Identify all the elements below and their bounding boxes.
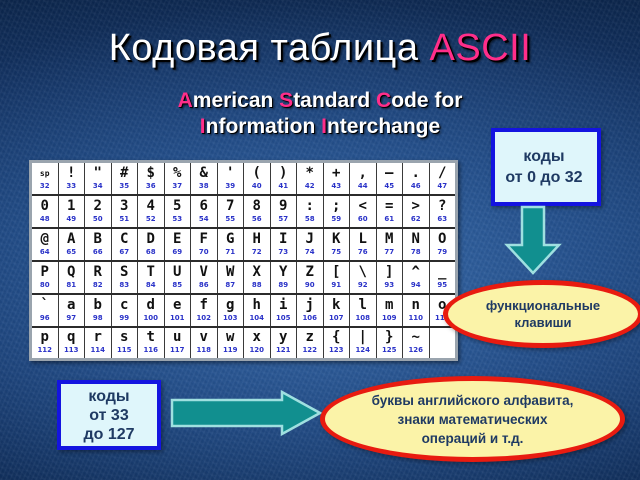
ascii-char: ? xyxy=(430,199,456,215)
ascii-cell: e101 xyxy=(164,294,191,327)
ascii-char: sp xyxy=(32,166,58,182)
ascii-code: 59 xyxy=(324,215,350,224)
ascii-code: 114 xyxy=(85,346,111,355)
ascii-char: O xyxy=(430,232,456,248)
ascii-cell: u117 xyxy=(164,327,191,360)
ascii-code: 37 xyxy=(165,182,191,191)
ascii-code: 99 xyxy=(112,314,138,323)
ascii-code: 76 xyxy=(350,248,376,257)
ascii-code: 74 xyxy=(297,248,323,257)
ascii-code: 49 xyxy=(59,215,85,224)
ascii-char: t xyxy=(138,330,164,346)
ascii-char: \ xyxy=(350,265,376,281)
subtitle-1-segment-5: ode for xyxy=(391,89,462,112)
callout-codes-33-127-line-2: от 33 xyxy=(83,406,134,425)
ascii-char: 7 xyxy=(218,199,244,215)
ascii-cell: B66 xyxy=(85,228,112,261)
ascii-code: 40 xyxy=(244,182,270,191)
ascii-code: 72 xyxy=(244,248,270,257)
ascii-char: J xyxy=(297,232,323,248)
ascii-code: 119 xyxy=(218,346,244,355)
ascii-char: : xyxy=(297,199,323,215)
ascii-char: . xyxy=(403,166,429,182)
ascii-cell: sp32 xyxy=(31,162,59,195)
arrow-down-icon xyxy=(504,205,562,275)
ascii-code: 123 xyxy=(324,346,350,355)
ascii-char: B xyxy=(85,232,111,248)
subtitle-1-segment-3: tandard xyxy=(293,89,376,112)
ascii-cell: 957 xyxy=(270,195,297,228)
ascii-char: { xyxy=(324,330,350,346)
ascii-cell: j106 xyxy=(297,294,324,327)
ascii-char: s xyxy=(112,330,138,346)
ascii-char: 2 xyxy=(85,199,111,215)
ascii-code: 125 xyxy=(377,346,403,355)
ascii-code: 51 xyxy=(112,215,138,224)
ascii-code: 63 xyxy=(430,215,456,224)
ascii-code-table: sp32!33"34#35$36%37&38'39(40)41*42+43,44… xyxy=(29,160,458,361)
ascii-code: 104 xyxy=(244,314,270,323)
ascii-char: m xyxy=(377,298,403,314)
ascii-char: P xyxy=(32,265,58,281)
ascii-cell: &38 xyxy=(191,162,218,195)
ascii-cell: 755 xyxy=(217,195,244,228)
ascii-char: q xyxy=(59,330,85,346)
ascii-code: 94 xyxy=(403,281,429,290)
ascii-char: ] xyxy=(377,265,403,281)
ascii-cell: P80 xyxy=(31,261,59,294)
ascii-cell: z122 xyxy=(297,327,324,360)
ascii-code: 43 xyxy=(324,182,350,191)
ascii-char: 9 xyxy=(271,199,297,215)
ascii-char: e xyxy=(165,298,191,314)
ascii-char: S xyxy=(112,265,138,281)
ascii-char: ) xyxy=(271,166,297,182)
subtitle-2-segment-3: nterchange xyxy=(327,115,440,138)
ascii-cell: a97 xyxy=(58,294,85,327)
ascii-code: 113 xyxy=(59,346,85,355)
ascii-char: n xyxy=(403,298,429,314)
ascii-char: 5 xyxy=(165,199,191,215)
ascii-cell: \92 xyxy=(350,261,377,294)
ascii-code: 65 xyxy=(59,248,85,257)
ascii-char: k xyxy=(324,298,350,314)
ascii-cell: G71 xyxy=(217,228,244,261)
table-row: P80Q81R82S83T84U85V86W87X88Y89Z90[91\92]… xyxy=(31,261,457,294)
ascii-char: h xyxy=(244,298,270,314)
ascii-code: 112 xyxy=(32,346,58,355)
ascii-cell: w119 xyxy=(217,327,244,360)
callout-letters-math-text: буквы английского алфавита, знаки матема… xyxy=(372,391,574,448)
ascii-cell: I73 xyxy=(270,228,297,261)
ascii-code: 48 xyxy=(32,215,58,224)
callout-codes-0-32-line-1: коды xyxy=(505,146,582,167)
ascii-char: Q xyxy=(59,265,85,281)
ascii-code: 32 xyxy=(32,182,58,191)
ascii-char: d xyxy=(138,298,164,314)
ascii-char: 4 xyxy=(138,199,164,215)
ascii-cell: V86 xyxy=(191,261,218,294)
ascii-char: ; xyxy=(324,199,350,215)
ascii-char: ! xyxy=(59,166,85,182)
ascii-code: 103 xyxy=(218,314,244,323)
ascii-char: W xyxy=(218,265,244,281)
ascii-cell: 553 xyxy=(164,195,191,228)
ascii-char: – xyxy=(377,166,403,182)
ascii-code: 82 xyxy=(85,281,111,290)
ascii-code: 34 xyxy=(85,182,111,191)
ascii-char: # xyxy=(112,166,138,182)
ascii-char: X xyxy=(244,265,270,281)
callout-function-keys-line-2: клавиши xyxy=(486,314,600,331)
ascii-cell: k107 xyxy=(323,294,350,327)
callout-function-keys-line-1: функциональные xyxy=(486,297,600,314)
ascii-char: u xyxy=(165,330,191,346)
ascii-cell: g103 xyxy=(217,294,244,327)
ascii-cell: ,44 xyxy=(350,162,377,195)
ascii-cell: Z90 xyxy=(297,261,324,294)
subtitle-2-segment-1: nformation xyxy=(206,115,322,138)
ascii-char: R xyxy=(85,265,111,281)
ascii-code: 64 xyxy=(32,248,58,257)
ascii-cell: q113 xyxy=(58,327,85,360)
ascii-cell: x120 xyxy=(244,327,271,360)
ascii-code: 96 xyxy=(32,314,58,323)
ascii-code: 70 xyxy=(191,248,217,257)
ascii-code: 86 xyxy=(191,281,217,290)
ascii-cell: ]93 xyxy=(376,261,403,294)
ascii-char: ~ xyxy=(403,330,429,346)
ascii-cell: l108 xyxy=(350,294,377,327)
ascii-cell: ~126 xyxy=(403,327,430,360)
ascii-code: 41 xyxy=(271,182,297,191)
ascii-char: | xyxy=(350,330,376,346)
ascii-code: 57 xyxy=(271,215,297,224)
ascii-cell: /47 xyxy=(429,162,457,195)
ascii-cell: b98 xyxy=(85,294,112,327)
ascii-char: G xyxy=(218,232,244,248)
ascii-char: w xyxy=(218,330,244,346)
ascii-char: x xyxy=(244,330,270,346)
ascii-code: 56 xyxy=(244,215,270,224)
ascii-char: = xyxy=(377,199,403,215)
ascii-cell: m109 xyxy=(376,294,403,327)
ascii-cell: 250 xyxy=(85,195,112,228)
ascii-cell: T84 xyxy=(138,261,165,294)
ascii-char: " xyxy=(85,166,111,182)
ascii-code: 53 xyxy=(165,215,191,224)
ascii-code: 52 xyxy=(138,215,164,224)
ascii-code: 85 xyxy=(165,281,191,290)
ascii-cell: O79 xyxy=(429,228,457,261)
callout-letters-math: буквы английского алфавита, знаки матема… xyxy=(320,376,625,462)
ascii-code: 80 xyxy=(32,281,58,290)
ascii-char: V xyxy=(191,265,217,281)
ascii-cell: p112 xyxy=(31,327,59,360)
ascii-cell: d100 xyxy=(138,294,165,327)
ascii-cell: =61 xyxy=(376,195,403,228)
ascii-code: 109 xyxy=(377,314,403,323)
ascii-code: 81 xyxy=(59,281,85,290)
ascii-code: 115 xyxy=(112,346,138,355)
table-row: p112q113r114s115t116u117v118w119x120y121… xyxy=(31,327,457,360)
ascii-char: v xyxy=(191,330,217,346)
ascii-code: 50 xyxy=(85,215,111,224)
ascii-code: 91 xyxy=(324,281,350,290)
ascii-char: @ xyxy=(32,232,58,248)
ascii-char: K xyxy=(324,232,350,248)
ascii-cell: 452 xyxy=(138,195,165,228)
ascii-cell: Q81 xyxy=(58,261,85,294)
ascii-code: 106 xyxy=(297,314,323,323)
ascii-char: , xyxy=(350,166,376,182)
ascii-code: 110 xyxy=(403,314,429,323)
callout-codes-33-127-text: коды от 33 до 127 xyxy=(83,387,134,444)
ascii-cell: >62 xyxy=(403,195,430,228)
ascii-cell: {123 xyxy=(323,327,350,360)
subtitle-1-segment-1: merican xyxy=(193,89,279,112)
callout-function-keys: функциональные клавиши xyxy=(443,280,640,348)
ascii-char: l xyxy=(350,298,376,314)
callout-codes-0-32: коды от 0 до 32 xyxy=(491,128,601,206)
ascii-cell: (40 xyxy=(244,162,271,195)
ascii-cell: c99 xyxy=(111,294,138,327)
ascii-cell: 856 xyxy=(244,195,271,228)
callout-letters-math-line-1: буквы английского алфавита, xyxy=(372,391,574,410)
ascii-code: 75 xyxy=(324,248,350,257)
ascii-code: 38 xyxy=(191,182,217,191)
ascii-cell: –45 xyxy=(376,162,403,195)
ascii-code: 61 xyxy=(377,215,403,224)
ascii-cell: v118 xyxy=(191,327,218,360)
ascii-code: 120 xyxy=(244,346,270,355)
ascii-code: 36 xyxy=(138,182,164,191)
table-row: sp32!33"34#35$36%37&38'39(40)41*42+43,44… xyxy=(31,162,457,195)
ascii-cell: ;59 xyxy=(323,195,350,228)
subtitle-1-segment-2: S xyxy=(279,89,293,112)
ascii-char: * xyxy=(297,166,323,182)
ascii-code: 79 xyxy=(430,248,456,257)
table-row: @64A65B66C67D68E69F70G71H72I73J74K75L76M… xyxy=(31,228,457,261)
ascii-code: 35 xyxy=(112,182,138,191)
ascii-cell: )41 xyxy=(270,162,297,195)
ascii-cell: t116 xyxy=(138,327,165,360)
ascii-cell: C67 xyxy=(111,228,138,261)
ascii-char: f xyxy=(191,298,217,314)
ascii-code: 46 xyxy=(403,182,429,191)
ascii-code: 87 xyxy=(218,281,244,290)
ascii-cell: E69 xyxy=(164,228,191,261)
ascii-char: c xyxy=(112,298,138,314)
ascii-code: 39 xyxy=(218,182,244,191)
ascii-cell: 149 xyxy=(58,195,85,228)
ascii-char: > xyxy=(403,199,429,215)
ascii-cell: N78 xyxy=(403,228,430,261)
ascii-char: } xyxy=(377,330,403,346)
ascii-cell: 351 xyxy=(111,195,138,228)
ascii-cell: *42 xyxy=(297,162,324,195)
ascii-code: 42 xyxy=(297,182,323,191)
ascii-char: ` xyxy=(32,298,58,314)
callout-letters-math-line-3: операций и т.д. xyxy=(372,429,574,448)
ascii-cell: "34 xyxy=(85,162,112,195)
ascii-code: 84 xyxy=(138,281,164,290)
ascii-cell: .46 xyxy=(403,162,430,195)
ascii-code: 54 xyxy=(191,215,217,224)
ascii-code: 58 xyxy=(297,215,323,224)
ascii-cell: i105 xyxy=(270,294,297,327)
ascii-code: 47 xyxy=(430,182,456,191)
ascii-char: A xyxy=(59,232,85,248)
ascii-cell: D68 xyxy=(138,228,165,261)
ascii-code: 62 xyxy=(403,215,429,224)
ascii-cell: +43 xyxy=(323,162,350,195)
ascii-char: j xyxy=(297,298,323,314)
ascii-cell: h104 xyxy=(244,294,271,327)
ascii-code: 126 xyxy=(403,346,429,355)
ascii-code: 118 xyxy=(191,346,217,355)
ascii-cell: K75 xyxy=(323,228,350,261)
ascii-cell: L76 xyxy=(350,228,377,261)
ascii-code: 60 xyxy=(350,215,376,224)
ascii-cell: Y89 xyxy=(270,261,297,294)
ascii-code: 71 xyxy=(218,248,244,257)
ascii-cell: y121 xyxy=(270,327,297,360)
ascii-code: 45 xyxy=(377,182,403,191)
ascii-cell: r114 xyxy=(85,327,112,360)
ascii-cell: U85 xyxy=(164,261,191,294)
ascii-code: 101 xyxy=(165,314,191,323)
ascii-char: ' xyxy=(218,166,244,182)
ascii-char: b xyxy=(85,298,111,314)
ascii-cell: @64 xyxy=(31,228,59,261)
ascii-code: 97 xyxy=(59,314,85,323)
page-subtitle-line-1: American Standard Code for xyxy=(0,88,640,114)
ascii-code: 105 xyxy=(271,314,297,323)
ascii-cell: J74 xyxy=(297,228,324,261)
ascii-cell: S83 xyxy=(111,261,138,294)
ascii-code: 83 xyxy=(112,281,138,290)
ascii-cell: %37 xyxy=(164,162,191,195)
ascii-char: / xyxy=(430,166,456,182)
ascii-char: ( xyxy=(244,166,270,182)
ascii-char: H xyxy=(244,232,270,248)
page-title-main: Кодовая таблица xyxy=(109,27,430,69)
ascii-cell: :58 xyxy=(297,195,324,228)
ascii-char: % xyxy=(165,166,191,182)
ascii-cell: ^94 xyxy=(403,261,430,294)
ascii-cell: !33 xyxy=(58,162,85,195)
ascii-code: 116 xyxy=(138,346,164,355)
ascii-char: $ xyxy=(138,166,164,182)
ascii-char: [ xyxy=(324,265,350,281)
ascii-code: 117 xyxy=(165,346,191,355)
ascii-char: 0 xyxy=(32,199,58,215)
ascii-char: U xyxy=(165,265,191,281)
ascii-code: 124 xyxy=(350,346,376,355)
ascii-code: 100 xyxy=(138,314,164,323)
ascii-cell: |124 xyxy=(350,327,377,360)
ascii-cell: _95 xyxy=(429,261,457,294)
ascii-code: 89 xyxy=(271,281,297,290)
ascii-code: 107 xyxy=(324,314,350,323)
ascii-cell: W87 xyxy=(217,261,244,294)
ascii-char: g xyxy=(218,298,244,314)
ascii-code: 121 xyxy=(271,346,297,355)
callout-function-keys-text: функциональные клавиши xyxy=(486,297,600,331)
ascii-code: 102 xyxy=(191,314,217,323)
ascii-cell: ?63 xyxy=(429,195,457,228)
ascii-char: F xyxy=(191,232,217,248)
ascii-char: ^ xyxy=(403,265,429,281)
subtitle-1-segment-0: A xyxy=(178,89,193,112)
ascii-char: M xyxy=(377,232,403,248)
ascii-cell: A65 xyxy=(58,228,85,261)
ascii-char xyxy=(430,335,456,351)
arrow-right-icon xyxy=(170,390,322,436)
ascii-char: N xyxy=(403,232,429,248)
ascii-cell: H72 xyxy=(244,228,271,261)
ascii-cell: s115 xyxy=(111,327,138,360)
table-row: `96a97b98c99d100e101f102g103h104i105j106… xyxy=(31,294,457,327)
ascii-char: < xyxy=(350,199,376,215)
ascii-char: _ xyxy=(430,265,456,281)
ascii-cell: $36 xyxy=(138,162,165,195)
ascii-cell: `96 xyxy=(31,294,59,327)
ascii-cell: [91 xyxy=(323,261,350,294)
ascii-char: 1 xyxy=(59,199,85,215)
subtitle-1-segment-4: C xyxy=(376,89,391,112)
ascii-char: a xyxy=(59,298,85,314)
ascii-char: I xyxy=(271,232,297,248)
ascii-char: L xyxy=(350,232,376,248)
ascii-char: Y xyxy=(271,265,297,281)
ascii-char: r xyxy=(85,330,111,346)
ascii-code: 44 xyxy=(350,182,376,191)
ascii-cell: 048 xyxy=(31,195,59,228)
ascii-cell: #35 xyxy=(111,162,138,195)
ascii-char: y xyxy=(271,330,297,346)
ascii-code: 98 xyxy=(85,314,111,323)
ascii-code: 66 xyxy=(85,248,111,257)
ascii-code: 55 xyxy=(218,215,244,224)
ascii-char: i xyxy=(271,298,297,314)
ascii-cell: <60 xyxy=(350,195,377,228)
callout-codes-0-32-line-2: от 0 до 32 xyxy=(505,167,582,188)
ascii-code: 77 xyxy=(377,248,403,257)
ascii-code: 95 xyxy=(430,281,456,290)
ascii-table-body: sp32!33"34#35$36%37&38'39(40)41*42+43,44… xyxy=(31,162,457,360)
ascii-code: 88 xyxy=(244,281,270,290)
callout-codes-0-32-text: коды от 0 до 32 xyxy=(505,146,582,188)
ascii-cell: f102 xyxy=(191,294,218,327)
ascii-code: 33 xyxy=(59,182,85,191)
ascii-code: 68 xyxy=(138,248,164,257)
ascii-char: D xyxy=(138,232,164,248)
ascii-code: 78 xyxy=(403,248,429,257)
ascii-char: p xyxy=(32,330,58,346)
ascii-code: 92 xyxy=(350,281,376,290)
ascii-char: E xyxy=(165,232,191,248)
ascii-code: 67 xyxy=(112,248,138,257)
callout-codes-33-127-line-1: коды xyxy=(83,387,134,406)
ascii-char: 6 xyxy=(191,199,217,215)
page-title-accent: ASCII xyxy=(430,27,532,69)
ascii-char: C xyxy=(112,232,138,248)
ascii-char: 8 xyxy=(244,199,270,215)
ascii-char: z xyxy=(297,330,323,346)
ascii-cell: F70 xyxy=(191,228,218,261)
